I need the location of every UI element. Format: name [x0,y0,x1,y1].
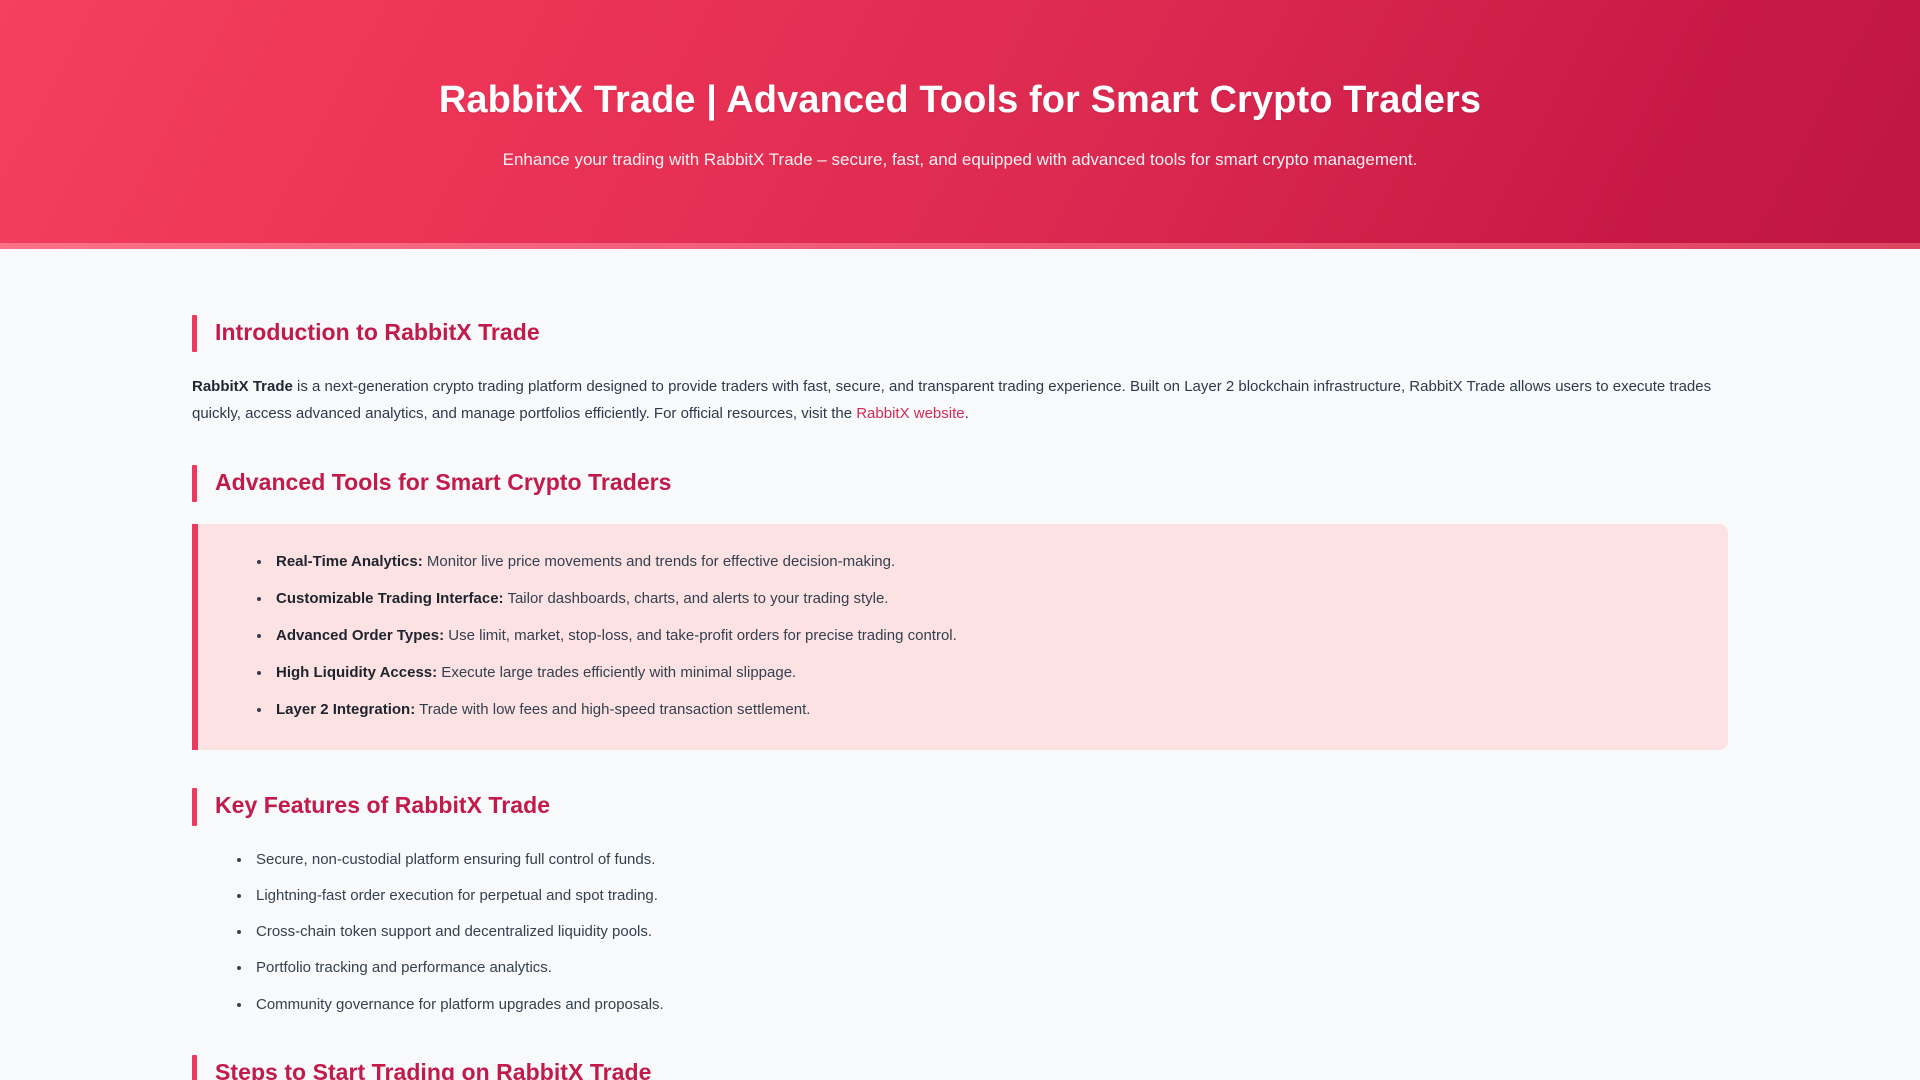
introduction-paragraph: RabbitX Trade is a next-generation crypt… [192,374,1728,427]
list-item-term: Customizable Trading Interface: [276,590,504,607]
section-introduction: Introduction to RabbitX Trade RabbitX Tr… [192,315,1728,427]
list-item: Community governance for platform upgrad… [252,993,1728,1017]
list-item-desc: Execute large trades efficiently with mi… [437,664,796,681]
section-heading-steps: Steps to Start Trading on RabbitX Trade [192,1055,1728,1080]
list-item: Portfolio tracking and performance analy… [252,956,1728,980]
list-item: High Liquidity Access: Execute large tra… [272,661,1694,685]
intro-lead-term: RabbitX Trade [192,378,293,395]
page-title: RabbitX Trade | Advanced Tools for Smart… [439,78,1481,123]
list-item: Layer 2 Integration: Trade with low fees… [272,698,1694,722]
list-item: Customizable Trading Interface: Tailor d… [272,587,1694,611]
list-item-term: Advanced Order Types: [276,627,444,644]
heading-accent-bar-icon [192,315,197,352]
section-heading-introduction: Introduction to RabbitX Trade [192,315,1728,352]
section-key-features: Key Features of RabbitX Trade Secure, no… [192,788,1728,1017]
section-heading-key-features: Key Features of RabbitX Trade [192,788,1728,825]
list-item: Lightning-fast order execution for perpe… [252,884,1728,908]
section-heading-advanced-tools: Advanced Tools for Smart Crypto Traders [192,465,1728,502]
section-steps: Steps to Start Trading on RabbitX Trade [192,1055,1728,1080]
page-subtitle: Enhance your trading with RabbitX Trade … [503,147,1418,173]
section-title-steps: Steps to Start Trading on RabbitX Trade [215,1055,651,1080]
section-title-key-features: Key Features of RabbitX Trade [215,788,550,825]
list-item: Secure, non-custodial platform ensuring … [252,848,1728,872]
page-hero-banner: RabbitX Trade | Advanced Tools for Smart… [0,0,1920,249]
list-item-desc: Use limit, market, stop-loss, and take-p… [444,627,957,644]
advanced-tools-list: Real-Time Analytics: Monitor live price … [232,550,1694,722]
list-item: Advanced Order Types: Use limit, market,… [272,624,1694,648]
list-item-term: Layer 2 Integration: [276,701,415,718]
list-item-desc: Tailor dashboards, charts, and alerts to… [504,590,889,607]
section-advanced-tools: Advanced Tools for Smart Crypto Traders … [192,465,1728,750]
section-title-introduction: Introduction to RabbitX Trade [215,315,540,352]
list-item: Cross-chain token support and decentrali… [252,920,1728,944]
list-item-term: High Liquidity Access: [276,664,437,681]
rabbitx-website-link[interactable]: RabbitX website [856,405,964,422]
list-item: Real-Time Analytics: Monitor live price … [272,550,1694,574]
heading-accent-bar-icon [192,465,197,502]
section-title-advanced-tools: Advanced Tools for Smart Crypto Traders [215,465,672,502]
hero-bottom-accent-strip [0,243,1920,249]
heading-accent-bar-icon [192,1055,197,1080]
intro-text-after-link: . [965,405,969,422]
list-item-desc: Trade with low fees and high-speed trans… [415,701,810,718]
content-container: Introduction to RabbitX Trade RabbitX Tr… [192,249,1728,1080]
heading-accent-bar-icon [192,788,197,825]
advanced-tools-callout-box: Real-Time Analytics: Monitor live price … [192,524,1728,750]
list-item-desc: Monitor live price movements and trends … [423,553,895,570]
list-item-term: Real-Time Analytics: [276,553,423,570]
key-features-list: Secure, non-custodial platform ensuring … [192,848,1728,1017]
main-content: Introduction to RabbitX Trade RabbitX Tr… [0,249,1920,1080]
